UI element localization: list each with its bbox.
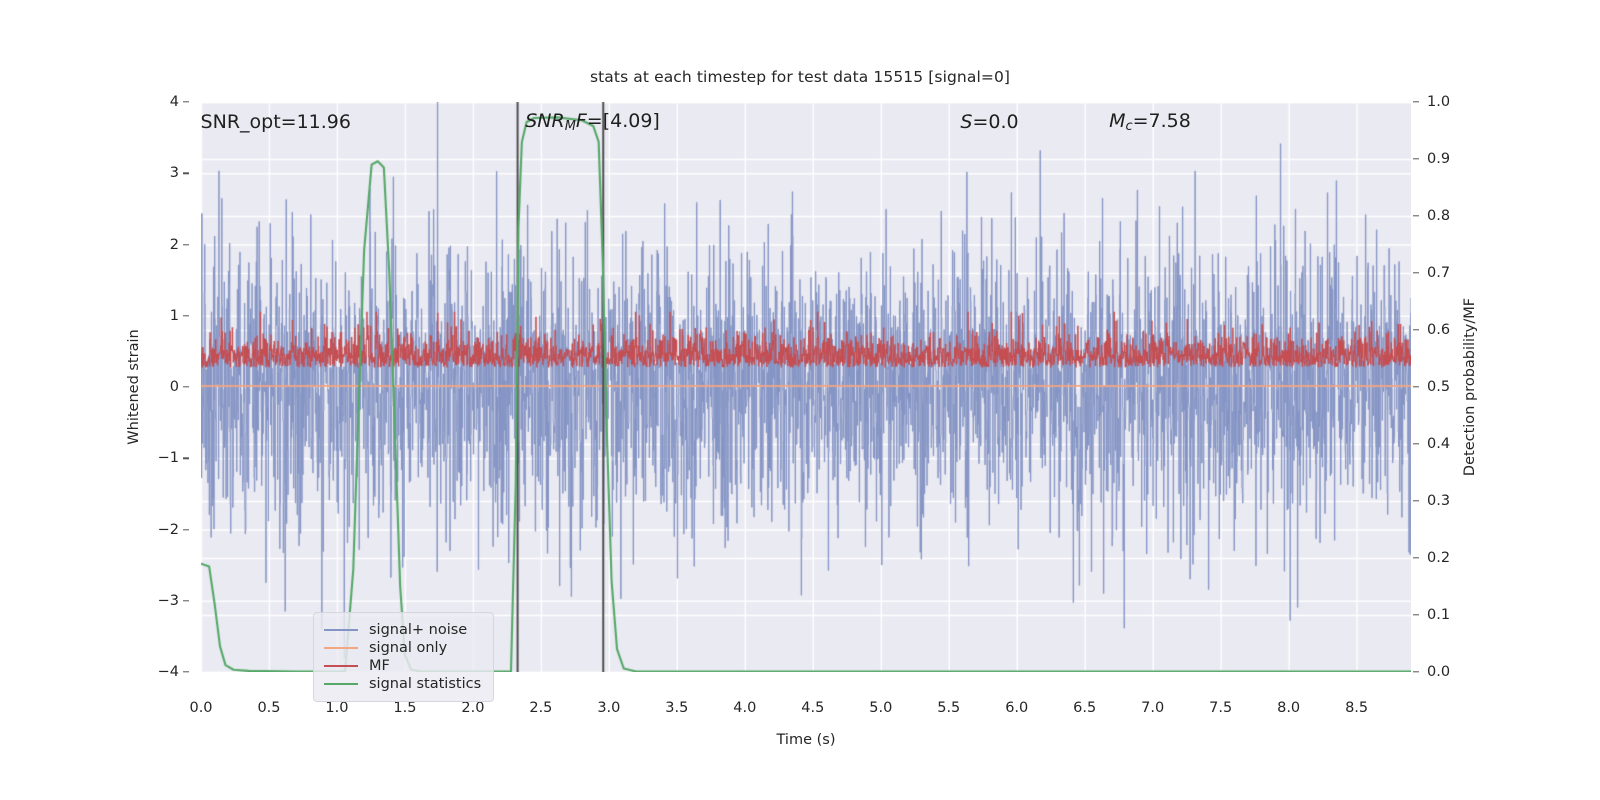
y-tick-label-right: 1.0 xyxy=(1411,94,1481,110)
x-tick-label: 0.0 xyxy=(171,700,231,716)
x-tick-label: 8.5 xyxy=(1327,700,1387,716)
legend-swatch-icon xyxy=(324,683,358,685)
x-tick-label: 6.5 xyxy=(1055,700,1115,716)
tick-mark xyxy=(183,315,189,316)
tick-mark xyxy=(183,600,189,601)
y-tick-label-left: −3 xyxy=(129,593,189,609)
x-tick-label: 3.5 xyxy=(647,700,707,716)
tick-mark xyxy=(1413,671,1419,672)
legend-box[interactable]: signal+ noisesignal onlyMFsignal statist… xyxy=(313,612,494,702)
figure-canvas: stats at each timestep for test data 155… xyxy=(0,0,1600,800)
y-tick-label-right: 0.2 xyxy=(1411,550,1481,566)
tick-mark xyxy=(183,386,189,387)
y-tick-label-left: 1 xyxy=(129,308,189,324)
y-axis-label-right: Detection probability/MF xyxy=(1462,298,1478,476)
legend-label: signal statistics xyxy=(369,676,481,692)
legend-label: signal only xyxy=(369,640,447,656)
x-tick-label: 1.5 xyxy=(375,700,435,716)
tick-mark xyxy=(183,244,189,245)
annotation-snr-opt: SNR_opt=11.96 xyxy=(201,111,351,133)
y-tick-label-right: 0.7 xyxy=(1411,265,1481,281)
annotation-snr-mf: SNRMF=[4.09] xyxy=(525,110,660,134)
tick-mark xyxy=(1413,386,1419,387)
page-title: stats at each timestep for test data 155… xyxy=(0,68,1600,86)
x-tick-label: 1.0 xyxy=(307,700,367,716)
x-tick-label: 8.0 xyxy=(1259,700,1319,716)
legend-item[interactable]: signal+ noise xyxy=(324,621,481,638)
tick-mark xyxy=(1413,158,1419,159)
tick-mark xyxy=(1413,557,1419,558)
y-tick-label-left: 2 xyxy=(129,237,189,253)
x-tick-label: 2.0 xyxy=(443,700,503,716)
y-tick-label-left: −2 xyxy=(129,522,189,538)
y-tick-label-right: 0.0 xyxy=(1411,664,1481,680)
legend-item[interactable]: signal statistics xyxy=(324,675,481,692)
x-tick-label: 0.5 xyxy=(239,700,299,716)
legend-label: signal+ noise xyxy=(369,622,467,638)
tick-mark xyxy=(183,173,189,174)
tick-mark xyxy=(183,671,189,672)
legend-item[interactable]: signal only xyxy=(324,639,481,656)
tick-mark xyxy=(1413,443,1419,444)
tick-mark xyxy=(183,101,189,102)
x-tick-label: 4.5 xyxy=(783,700,843,716)
x-tick-label: 7.5 xyxy=(1191,700,1251,716)
y-tick-label-right: 0.3 xyxy=(1411,493,1481,509)
y-tick-label-right: 0.9 xyxy=(1411,151,1481,167)
tick-mark xyxy=(1413,614,1419,615)
annotation-chirp-mass: Mc=7.58 xyxy=(1109,110,1191,134)
x-tick-label: 2.5 xyxy=(511,700,571,716)
plot-axes xyxy=(201,102,1411,672)
x-tick-label: 5.0 xyxy=(851,700,911,716)
legend-item[interactable]: MF xyxy=(324,657,481,674)
tick-mark xyxy=(1413,215,1419,216)
y-axis-label-left: Whitened strain xyxy=(126,329,142,444)
tick-mark xyxy=(183,458,189,459)
y-tick-label-right: 0.1 xyxy=(1411,607,1481,623)
tick-mark xyxy=(1413,500,1419,501)
x-tick-label: 7.0 xyxy=(1123,700,1183,716)
y-tick-label-right: 0.8 xyxy=(1411,208,1481,224)
y-tick-label-left: 3 xyxy=(129,165,189,181)
tick-mark xyxy=(1413,101,1419,102)
legend-swatch-icon xyxy=(324,665,358,667)
tick-mark xyxy=(183,529,189,530)
plot-drawing-surface xyxy=(201,102,1411,672)
x-tick-label: 6.0 xyxy=(987,700,1047,716)
annotation-s-value: S=0.0 xyxy=(960,111,1018,133)
y-tick-label-left: −1 xyxy=(129,450,189,466)
x-axis-label: Time (s) xyxy=(777,732,836,748)
legend-swatch-icon xyxy=(324,647,358,649)
legend-swatch-icon xyxy=(324,629,358,631)
x-tick-label: 5.5 xyxy=(919,700,979,716)
tick-mark xyxy=(1413,329,1419,330)
x-tick-label: 3.0 xyxy=(579,700,639,716)
y-tick-label-left: −4 xyxy=(129,664,189,680)
x-tick-label: 4.0 xyxy=(715,700,775,716)
legend-label: MF xyxy=(369,658,390,674)
tick-mark xyxy=(1413,272,1419,273)
y-tick-label-left: 4 xyxy=(129,94,189,110)
